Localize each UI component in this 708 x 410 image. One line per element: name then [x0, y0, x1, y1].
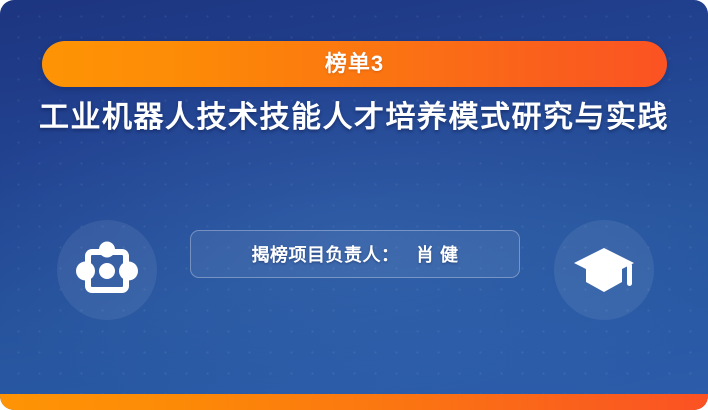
robot-icon-disc [57, 220, 157, 320]
graduation-cap-icon [572, 242, 636, 298]
graduation-cap-icon-disc [554, 220, 654, 320]
project-leader-text: 揭榜项目负责人： 肖 健 [251, 241, 458, 267]
banner-card: 榜单3 工业机器人技术技能人才培养模式研究与实践 揭榜项目负责人： 肖 健 [0, 0, 708, 410]
list-badge-label: 榜单3 [325, 53, 384, 75]
list-badge: 榜单3 [42, 41, 667, 87]
bottom-accent-strip [0, 394, 708, 410]
robot-icon [76, 240, 138, 300]
page-title: 工业机器人技术技能人才培养模式研究与实践 [0, 100, 708, 136]
project-leader-pill: 揭榜项目负责人： 肖 健 [190, 230, 520, 278]
